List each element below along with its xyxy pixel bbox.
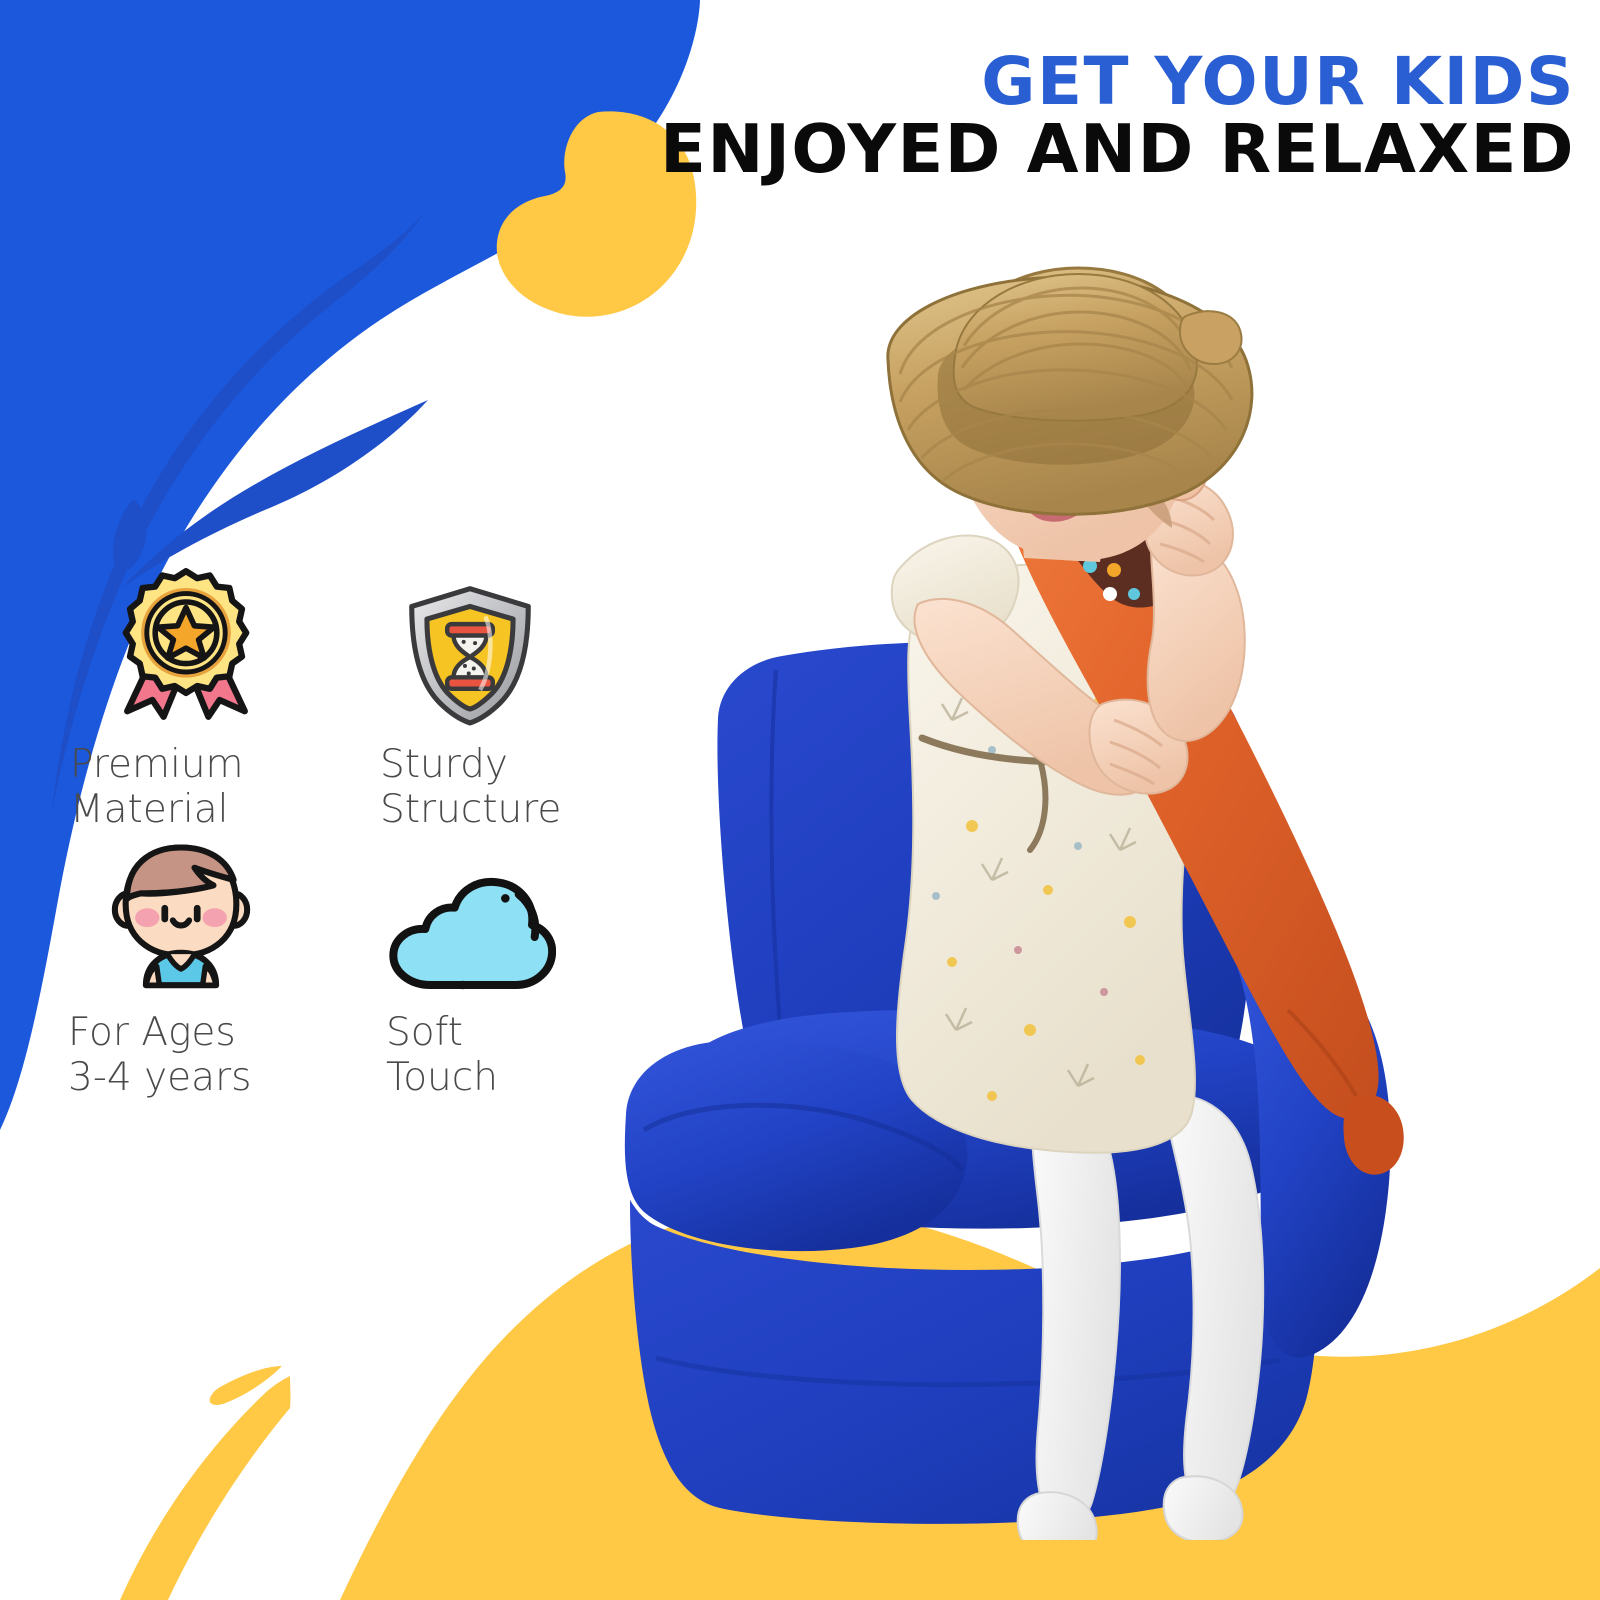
shield-hourglass-icon xyxy=(394,576,546,728)
child-on-blue-kids-sofa-photo xyxy=(600,250,1500,1540)
headline-line-2: ENJOYED AND RELAXED xyxy=(500,115,1575,183)
feature-premium-material: Premium Material xyxy=(62,548,362,816)
feature-icon-wrap xyxy=(62,548,362,728)
feature-sturdy-structure: Sturdy Structure xyxy=(362,548,642,816)
feature-icon-wrap xyxy=(362,816,642,996)
feature-grid: Premium Material xyxy=(62,548,642,1086)
feature-label: Soft Touch xyxy=(362,1010,642,1100)
headline: GET YOUR KIDS ENJOYED AND RELAXED xyxy=(500,48,1575,184)
feature-soft-touch: Soft Touch xyxy=(362,816,642,1086)
product-banner: GET YOUR KIDS ENJOYED AND RELAXED xyxy=(0,0,1600,1600)
child-face-icon xyxy=(100,834,262,996)
feature-icon-wrap xyxy=(62,816,362,996)
bottom-yellow-arc xyxy=(120,1376,290,1600)
feature-for-ages: For Ages 3-4 years xyxy=(62,816,362,1086)
headline-line-1: GET YOUR KIDS xyxy=(500,48,1575,115)
feature-label: For Ages 3-4 years xyxy=(62,1010,362,1100)
award-medal-icon xyxy=(102,560,270,728)
feature-icon-wrap xyxy=(362,548,642,728)
cloud-icon xyxy=(380,862,556,996)
